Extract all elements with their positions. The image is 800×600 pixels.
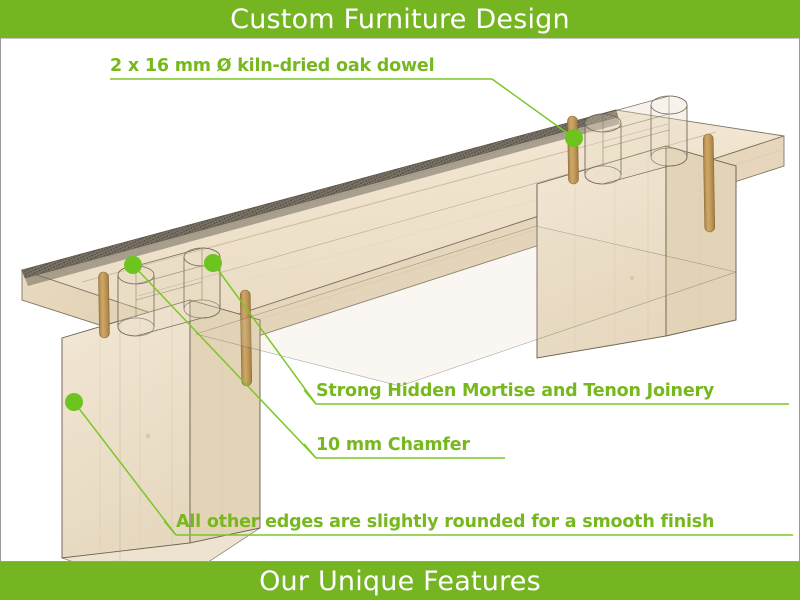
callout-label-mortise: Strong Hidden Mortise and Tenon Joinery — [316, 383, 714, 401]
frame-border-left — [0, 38, 1, 562]
header-banner: Custom Furniture Design — [0, 0, 800, 38]
callout-dot-chamfer — [124, 256, 142, 274]
page-title: Custom Furniture Design — [230, 4, 570, 35]
footer-banner: Our Unique Features — [0, 562, 800, 600]
dowel-pin-right-outer — [567, 116, 578, 184]
callout-dot-dowel — [565, 129, 583, 147]
callout-label-dowel: 2 x 16 mm Ø kiln-dried oak dowel — [110, 58, 434, 76]
callout-dot-edges — [65, 393, 83, 411]
bench-technical-drawing — [0, 38, 800, 562]
dowel-pin-right-inner — [703, 134, 715, 232]
dowel-pin-left-outer — [98, 272, 109, 338]
frame-divider-top — [0, 38, 800, 39]
callout-dot-mortise — [204, 254, 222, 272]
screenshot-root: Custom Furniture Design — [0, 0, 800, 600]
leader-dowel — [492, 79, 574, 138]
callout-label-chamfer: 10 mm Chamfer — [316, 437, 470, 455]
callout-label-edges: All other edges are slightly rounded for… — [176, 514, 714, 532]
footer-title: Our Unique Features — [259, 566, 541, 597]
